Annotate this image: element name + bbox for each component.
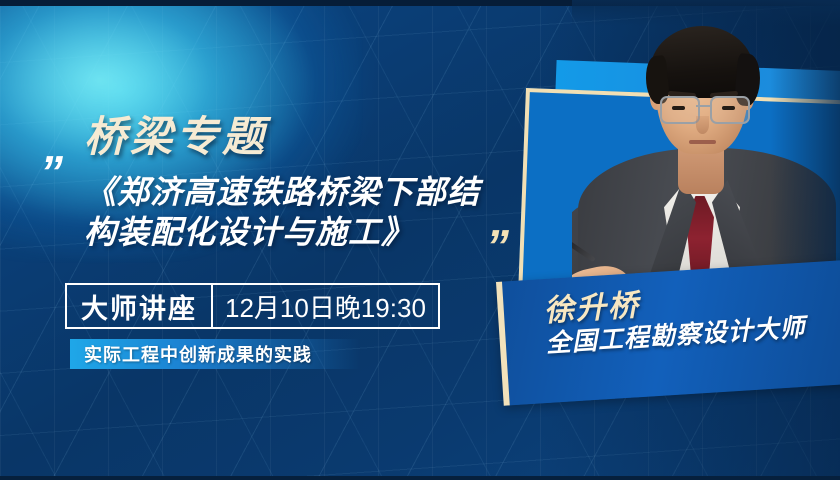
speaker-name-group: 徐升桥 全国工程勘察设计大师: [543, 279, 807, 359]
subtitle-bar: 实际工程中创新成果的实践: [70, 339, 360, 369]
lecture-poster: 徐升桥 全国工程勘察设计大师 桥梁专题 ” 《郑济高速铁路桥梁下部结构装配化设计…: [0, 0, 840, 480]
book-title: 《郑济高速铁路桥梁下部结构装配化设计与施工》: [84, 172, 504, 253]
glasses-lens-right: [710, 96, 750, 124]
portrait-mouth: [689, 140, 716, 144]
glasses-lens-left: [660, 96, 700, 124]
glasses-bridge: [696, 105, 710, 107]
lecture-category-label: 大师讲座: [67, 285, 213, 327]
portrait-top-fade: [572, 0, 840, 26]
lecture-datetime-label: 12月10日晚19:30: [213, 285, 438, 327]
speaker-name-plate: 徐升桥 全国工程勘察设计大师: [496, 259, 840, 406]
portrait-nose: [696, 116, 709, 134]
lecture-info-bar: 大师讲座 12月10日晚19:30: [65, 283, 440, 329]
portrait-eye-left: [672, 106, 685, 110]
portrait-eye-right: [722, 106, 735, 110]
page-title: 桥梁专题: [84, 103, 268, 164]
subtitle-label: 实际工程中创新成果的实践: [70, 341, 312, 367]
bottom-edge-strip: [0, 476, 840, 480]
